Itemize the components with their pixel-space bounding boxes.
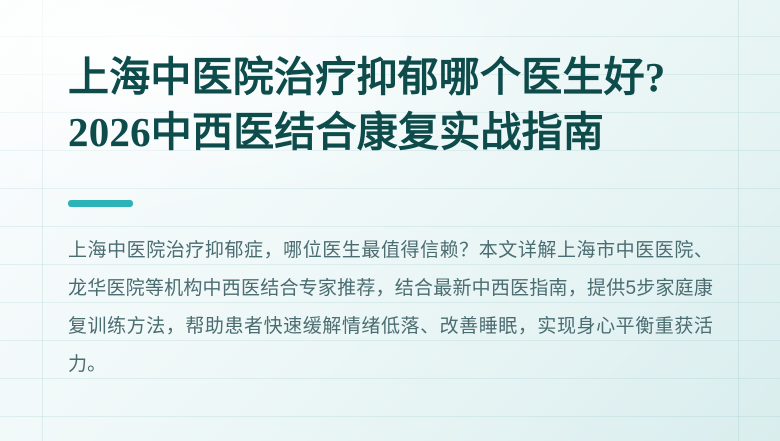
poster-title-line-1: 上海中医院治疗抑郁哪个医生好?: [68, 50, 718, 105]
background-vertical-rule-left: [42, 0, 43, 441]
poster-body-text: 上海中医院治疗抑郁症，哪位医生最值得信赖？本文详解上海市中医医院、龙华医院等机构…: [68, 232, 713, 384]
poster-title: 上海中医院治疗抑郁哪个医生好? 2026中西医结合康复实战指南: [68, 50, 718, 160]
background-vertical-rule-right: [738, 0, 739, 441]
poster-title-line-2: 2026中西医结合康复实战指南: [68, 105, 718, 160]
poster-content: 上海中医院治疗抑郁哪个医生好? 2026中西医结合康复实战指南 上海中医院治疗抑…: [68, 0, 728, 441]
poster-canvas: 上海中医院治疗抑郁哪个医生好? 2026中西医结合康复实战指南 上海中医院治疗抑…: [0, 0, 780, 441]
accent-divider: [68, 200, 133, 207]
